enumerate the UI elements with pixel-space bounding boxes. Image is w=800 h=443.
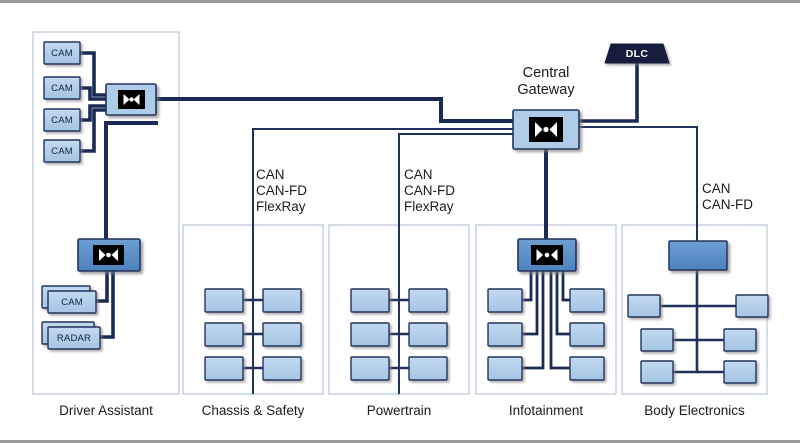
ecu-infotainment-r2[interactable] [570, 323, 604, 346]
bus-to-body-electronics [579, 127, 697, 241]
protocol-body-line2: CAN-FD [702, 197, 753, 212]
protocol-chassis-line1: CAN [256, 167, 285, 182]
gateway-body-electronics[interactable] [669, 241, 727, 270]
ecu-cam-3[interactable] [44, 109, 80, 131]
wire-da-switch-to-central-gateway [156, 99, 514, 121]
ecu-body-r3[interactable] [724, 361, 756, 383]
ecu-cam-2[interactable] [44, 77, 80, 99]
central-gateway-label: CentralGateway [496, 65, 596, 100]
ecu-infotainment-l3[interactable] [488, 357, 522, 380]
central-gateway-switch[interactable] [513, 110, 579, 149]
ecu-body-l1[interactable] [628, 295, 660, 317]
ecu-cam-5[interactable] [42, 286, 96, 313]
central-gateway-label-line1: Central [523, 65, 570, 81]
ecu-powertrain-l2[interactable] [351, 323, 389, 346]
protocol-chassis-line3: FlexRay [256, 199, 306, 214]
ecu-body-r1[interactable] [736, 295, 768, 317]
ecu-chassis-l3[interactable] [205, 357, 243, 380]
ecu-radar[interactable] [42, 322, 100, 349]
ecu-powertrain-r3[interactable] [409, 357, 447, 380]
ecu-chassis-r1[interactable] [263, 289, 301, 312]
protocol-powertrain-line2: CAN-FD [404, 183, 455, 198]
ecu-chassis-l2[interactable] [205, 323, 243, 346]
group-label-powertrain: Powertrain [329, 403, 469, 419]
group-label-driver-assistant: Driver Assistant [33, 403, 179, 419]
protocol-body-line1: CAN [702, 181, 731, 196]
ecu-cam-1[interactable] [44, 42, 80, 64]
ecu-infotainment-l1[interactable] [488, 289, 522, 312]
group-label-infotainment: Infotainment [476, 403, 616, 419]
ecu-body-l3[interactable] [641, 361, 673, 383]
dlc-label: DLC [605, 44, 669, 63]
ecu-chassis-r3[interactable] [263, 357, 301, 380]
ecu-infotainment-l2[interactable] [488, 323, 522, 346]
ecu-chassis-r2[interactable] [263, 323, 301, 346]
ecu-infotainment-r3[interactable] [570, 357, 604, 380]
ecu-chassis-l1[interactable] [205, 289, 243, 312]
protocol-label-body: CANCAN-FD [702, 181, 753, 213]
protocol-powertrain-line1: CAN [404, 167, 433, 182]
group-label-chassis-safety: Chassis & Safety [183, 403, 323, 419]
ecu-body-r2[interactable] [724, 329, 756, 351]
network-diagram-svg [0, 3, 800, 443]
diagram-canvas: CAM CAM CAM CAM CAM RADAR DLC CentralGat… [0, 0, 800, 443]
protocol-chassis-line2: CAN-FD [256, 183, 307, 198]
ecu-powertrain-l1[interactable] [351, 289, 389, 312]
switch-driver-assistant-top[interactable] [106, 84, 156, 115]
ecu-body-l2[interactable] [641, 329, 673, 351]
ecu-powertrain-r1[interactable] [409, 289, 447, 312]
ecu-cam-4[interactable] [44, 140, 80, 162]
switch-infotainment[interactable] [518, 239, 576, 271]
ecu-infotainment-r1[interactable] [570, 289, 604, 312]
central-gateway-label-line2: Gateway [517, 82, 574, 98]
switch-driver-assistant-lower[interactable] [78, 239, 140, 271]
ecu-powertrain-l3[interactable] [351, 357, 389, 380]
protocol-powertrain-line3: FlexRay [404, 199, 454, 214]
group-label-body-electronics: Body Electronics [620, 403, 769, 419]
protocol-label-powertrain: CANCAN-FDFlexRay [404, 167, 455, 215]
protocol-label-chassis: CANCAN-FDFlexRay [256, 167, 307, 215]
ecu-powertrain-r2[interactable] [409, 323, 447, 346]
